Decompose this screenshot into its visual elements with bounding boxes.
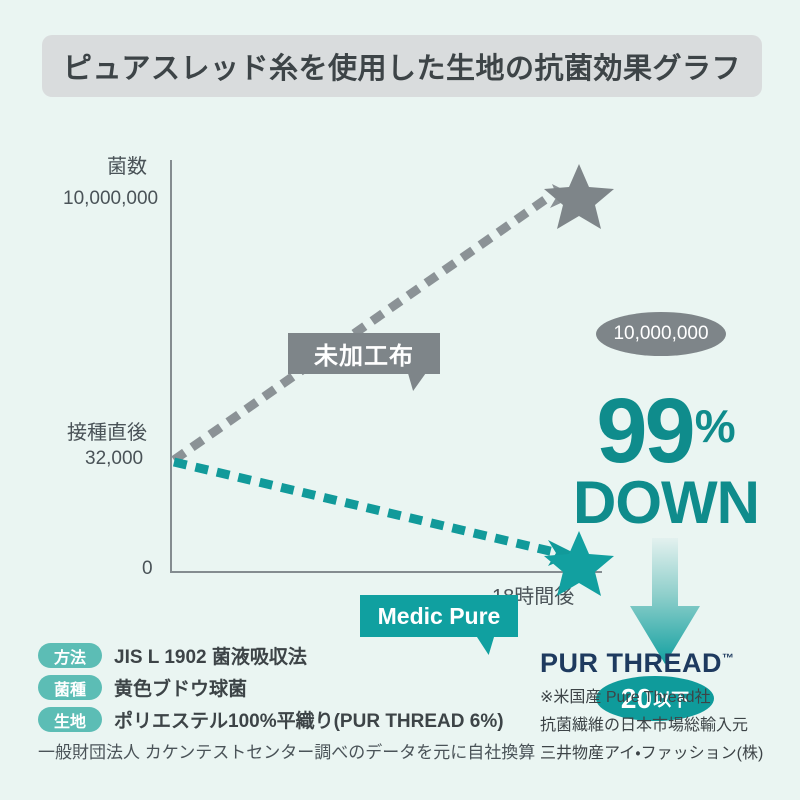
- spec-row: 菌種 黄色ブドウ球菌: [38, 674, 535, 701]
- value-bubble-untreated: 10,000,000: [596, 312, 726, 356]
- brand-block: PUR THREAD™ ※米国産 Pure Thread社 抗菌繊維の日本市場総…: [540, 648, 790, 763]
- infographic-root: ピュアスレッド糸を使用した生地の抗菌効果グラフ 菌数 10,000,000 接種…: [0, 0, 800, 800]
- spec-value-strain: 黄色ブドウ球菌: [114, 674, 247, 701]
- brand-note-line: 三井物産アイ・ファッション(株): [540, 739, 790, 763]
- callout-medic-pure-label: Medic Pure: [378, 603, 501, 630]
- callout-untreated-tail: [404, 373, 426, 391]
- antibacterial-chart: 菌数 10,000,000 接種直後 32,000 0 18時間後 未加工布: [0, 140, 800, 620]
- source-note: 一般財団法人 カケンテストセンター調べのデータを元に自社換算: [38, 738, 535, 763]
- spec-row: 生地 ポリエステル100%平織り(PUR THREAD 6%): [38, 706, 535, 733]
- spec-badge-method: 方法: [38, 643, 102, 668]
- value-bubble-untreated-text: 10,000,000: [613, 323, 708, 345]
- spec-value-fabric: ポリエステル100%平織り(PUR THREAD 6%): [114, 706, 504, 733]
- callout-medic-pure: Medic Pure: [360, 595, 518, 637]
- page-title: ピュアスレッド糸を使用した生地の抗菌効果グラフ: [63, 45, 741, 87]
- page-title-bar: ピュアスレッド糸を使用した生地の抗菌効果グラフ: [42, 35, 762, 97]
- callout-untreated-label: 未加工布: [314, 336, 414, 371]
- series-untreated: [174, 184, 576, 460]
- brand-logo: PUR THREAD™: [540, 648, 790, 679]
- brand-note-line: 抗菌繊維の日本市場総輸入元: [540, 711, 790, 735]
- star-marker-untreated: [544, 164, 614, 229]
- star-marker-medic: [544, 531, 614, 596]
- series-medic-pure: [174, 462, 576, 566]
- brand-note-line: ※米国産 Pure Thread社: [540, 683, 790, 707]
- spec-value-method: JIS L 1902 菌液吸収法: [114, 642, 307, 669]
- reduction-percent-sign: %: [695, 403, 736, 449]
- spec-badge-fabric: 生地: [38, 707, 102, 732]
- spec-row: 方法 JIS L 1902 菌液吸収法: [38, 642, 535, 669]
- reduction-highlight: 99 % DOWN: [556, 385, 776, 533]
- reduction-number: 99: [596, 385, 692, 477]
- brand-logo-text: PUR THREAD: [540, 648, 722, 678]
- reduction-word: DOWN: [556, 473, 776, 533]
- footer: 方法 JIS L 1902 菌液吸収法 菌種 黄色ブドウ球菌 生地 ポリエステル…: [0, 636, 800, 800]
- spec-list: 方法 JIS L 1902 菌液吸収法 菌種 黄色ブドウ球菌 生地 ポリエステル…: [38, 642, 535, 763]
- spec-badge-strain: 菌種: [38, 675, 102, 700]
- trademark-icon: ™: [722, 651, 735, 665]
- callout-untreated: 未加工布: [288, 333, 440, 374]
